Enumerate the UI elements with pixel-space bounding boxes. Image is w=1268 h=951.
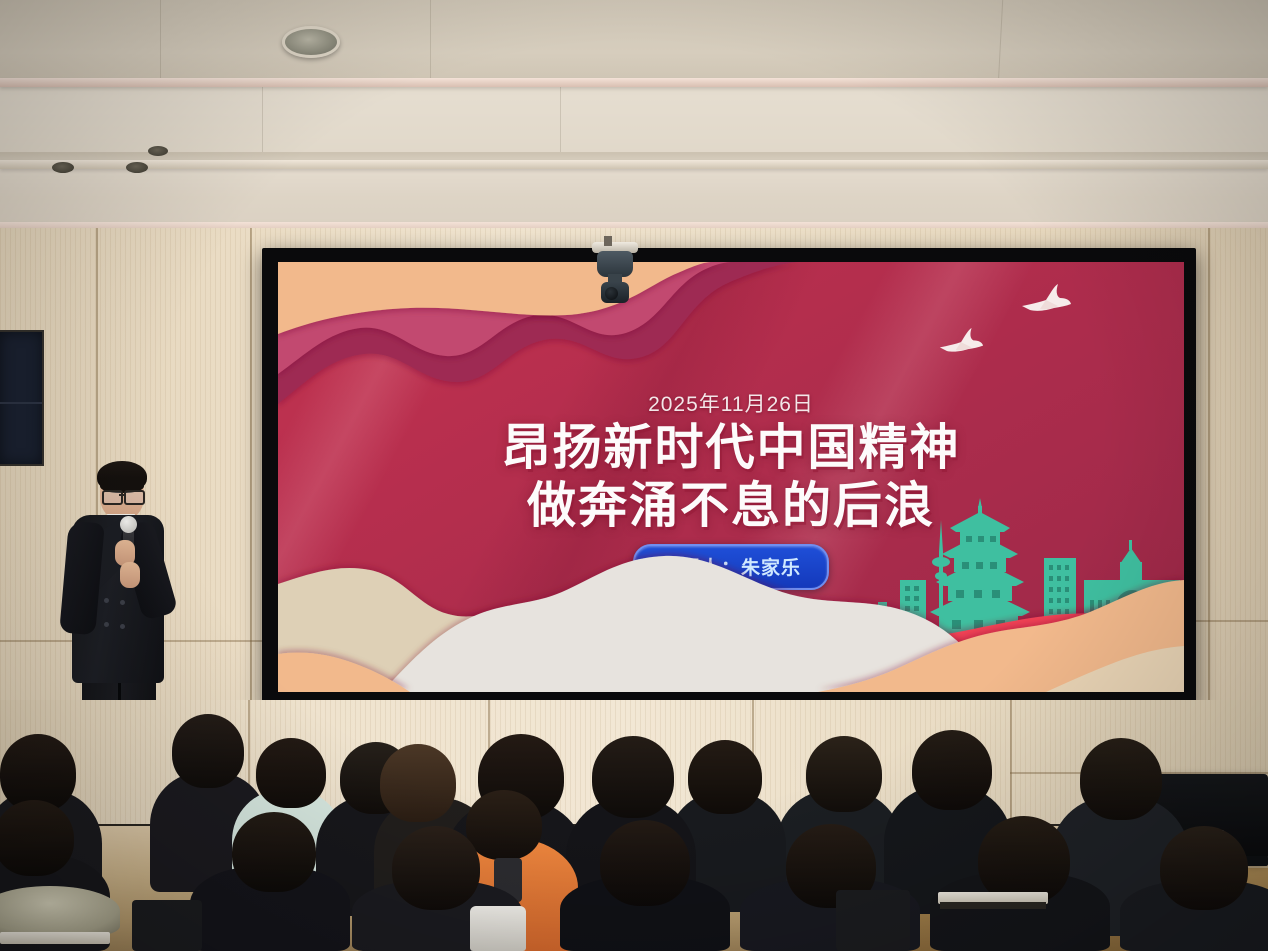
projector-lens-icon [601,282,629,303]
desk-surface [0,932,110,944]
audience-head [466,790,542,860]
microphone-head-icon [120,516,137,533]
fur-collar [0,886,120,936]
suit-button [104,622,109,627]
suit-button [104,598,109,603]
audience-head [380,744,456,822]
suit-button [120,624,125,629]
wall-panel-seam [1196,620,1268,622]
round-speaker-grille-icon [282,26,340,58]
projection-screen: 2025年11月26日 昂扬新时代中国精神 做奔涌不息的后浪 汇报人：朱家乐 [278,262,1184,692]
recessed-downlight-icon [148,146,168,156]
presenter-hand [120,562,140,588]
audience-head [600,820,690,906]
audience-head [1160,826,1248,910]
wall-panel-seam [250,228,252,728]
wall-panel-seam [1208,228,1210,728]
slide-wave-layers-bottom [278,262,1184,692]
audience-head [912,730,992,810]
ceiling-seam-v4 [262,86,263,152]
audience-head [232,812,316,892]
presenter-hair [97,461,147,492]
audience-head [978,816,1070,904]
audience-head [1080,738,1162,820]
ceiling-seam-v1 [160,0,161,84]
audience-head [0,800,74,876]
seat-back [836,890,910,951]
white-bag [470,906,526,951]
audience-head [392,826,480,910]
ceiling-band-2 [0,168,1268,224]
ceiling-beam-1 [0,78,1268,87]
audience-head [592,736,674,818]
ceiling-seam-v2 [430,0,431,84]
ceiling-beam-2 [0,160,1268,169]
audience-head [688,740,762,814]
eyeglasses-bridge [119,494,125,496]
recessed-downlight-icon [126,162,148,173]
audience-head [172,714,244,788]
eyeglasses-icon [102,490,123,505]
projector-stem [604,236,612,246]
lower-wall-seam [1010,700,1012,835]
eyeglasses-icon [124,490,145,505]
audience-head [806,736,882,812]
dark-display-panel [0,330,44,466]
desk-edge [940,902,1046,909]
seat-back [132,900,202,951]
suit-button [120,600,125,605]
audience-head [256,738,326,808]
auditorium-scene: 2025年11月26日 昂扬新时代中国精神 做奔涌不息的后浪 汇报人：朱家乐 [0,0,1268,951]
recessed-downlight-icon [52,162,74,173]
ceiling-seam-v5 [560,86,561,152]
ceiling-band-1 [0,86,1268,152]
